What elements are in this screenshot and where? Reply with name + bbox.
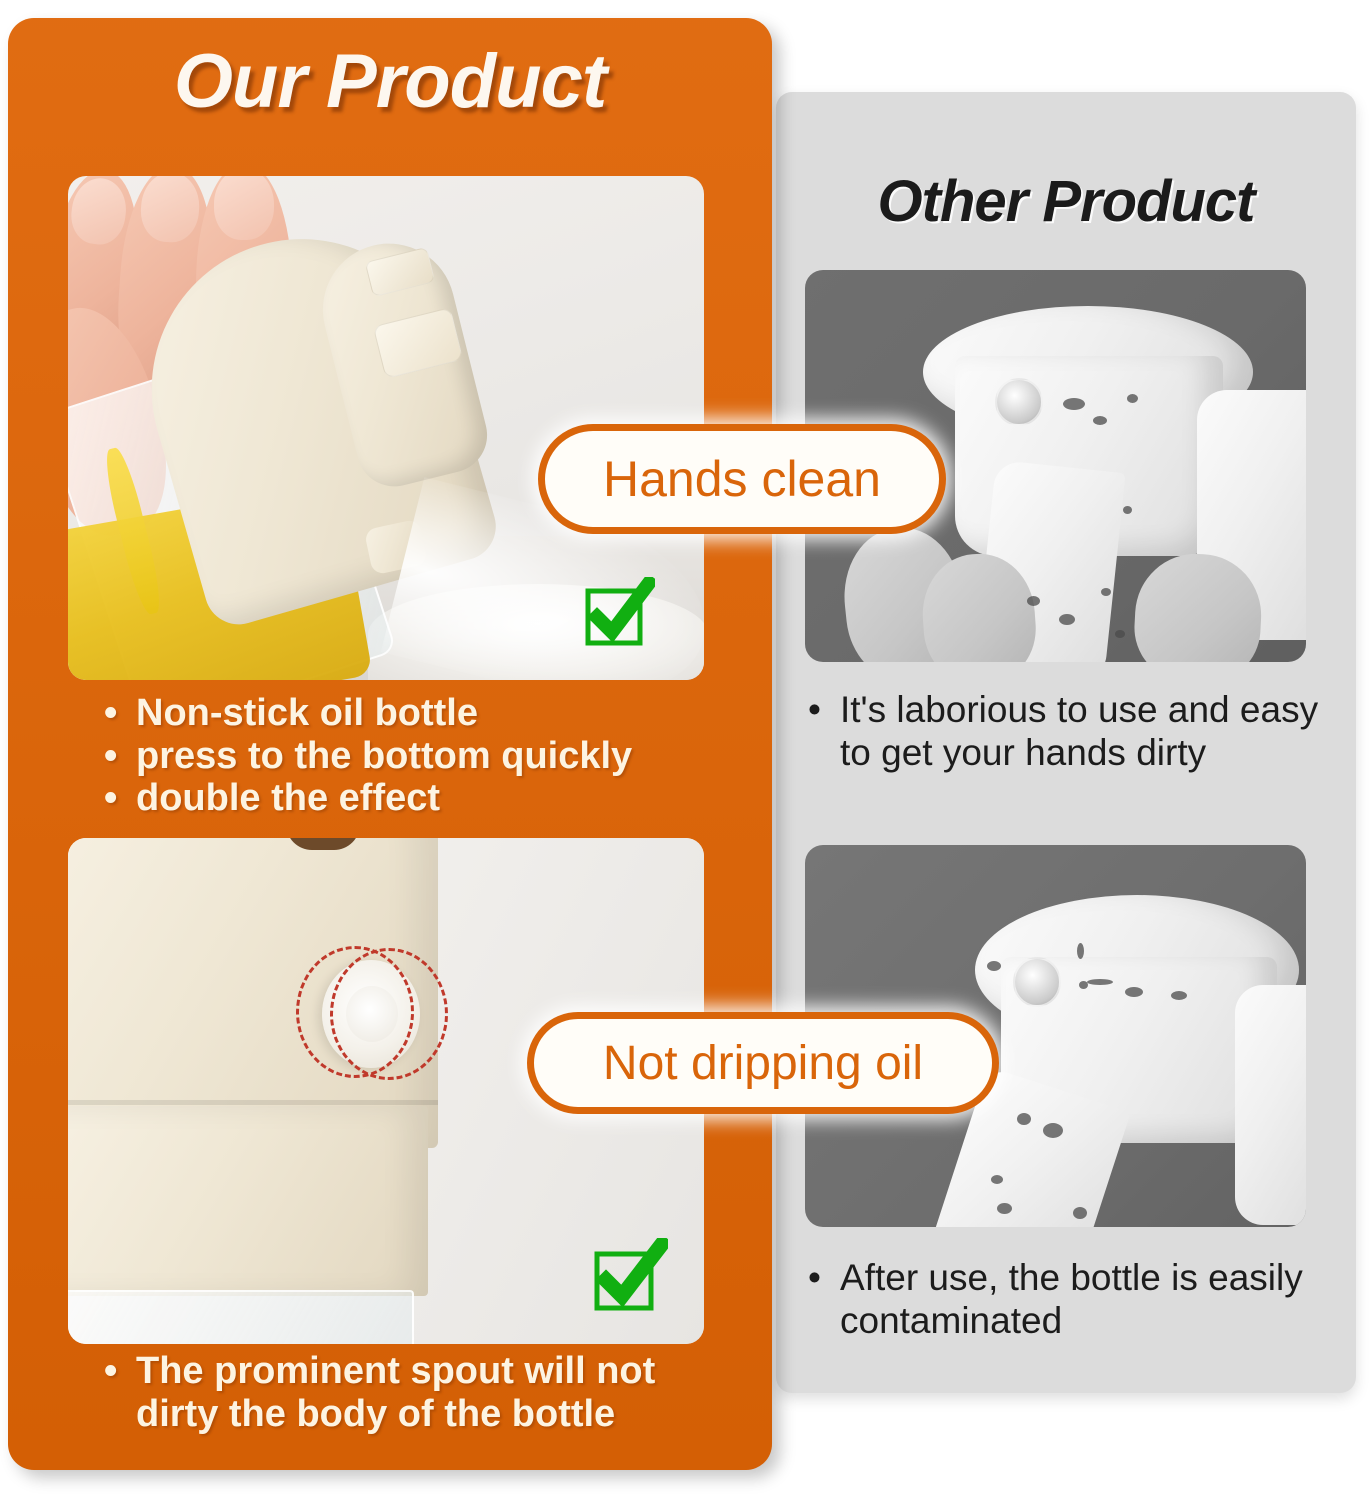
other-top-bullet-list: It's laborious to use and easy to get yo… xyxy=(798,688,1346,775)
list-item: It's laborious to use and easy to get yo… xyxy=(798,688,1346,775)
list-item: press to the bottom quickly xyxy=(94,735,734,778)
infographic-stage: Our Product Other Product Hands clean xyxy=(0,0,1371,1500)
bottle-lower-body-shape xyxy=(68,1106,428,1296)
list-item: double the effect xyxy=(94,777,734,820)
bottle-body-shape xyxy=(1235,985,1306,1225)
hands-clean-badge: Hands clean xyxy=(538,424,946,534)
highlight-dashed-circle xyxy=(330,948,448,1080)
bottle-seam-line xyxy=(68,1100,438,1105)
valve-screw-shape xyxy=(995,378,1043,426)
green-check-icon xyxy=(592,1238,668,1314)
our-product-title: Our Product xyxy=(8,38,772,125)
not-dripping-oil-badge: Not dripping oil xyxy=(527,1012,999,1114)
list-item: The prominent spout will not dirty the b… xyxy=(94,1350,734,1435)
our-top-bullet-list: Non-stick oil bottle press to the bottom… xyxy=(94,692,734,820)
our-bottom-bullet-list: The prominent spout will not dirty the b… xyxy=(94,1350,734,1435)
list-item: After use, the bottle is easily contamin… xyxy=(798,1256,1346,1343)
valve-screw-shape xyxy=(1013,957,1061,1007)
bottle-glass-base-shape xyxy=(68,1290,414,1344)
other-product-title: Other Product xyxy=(776,168,1356,235)
other-bottom-bullet-list: After use, the bottle is easily contamin… xyxy=(798,1256,1346,1343)
list-item: Non-stick oil bottle xyxy=(94,692,734,735)
green-check-icon xyxy=(583,577,655,649)
